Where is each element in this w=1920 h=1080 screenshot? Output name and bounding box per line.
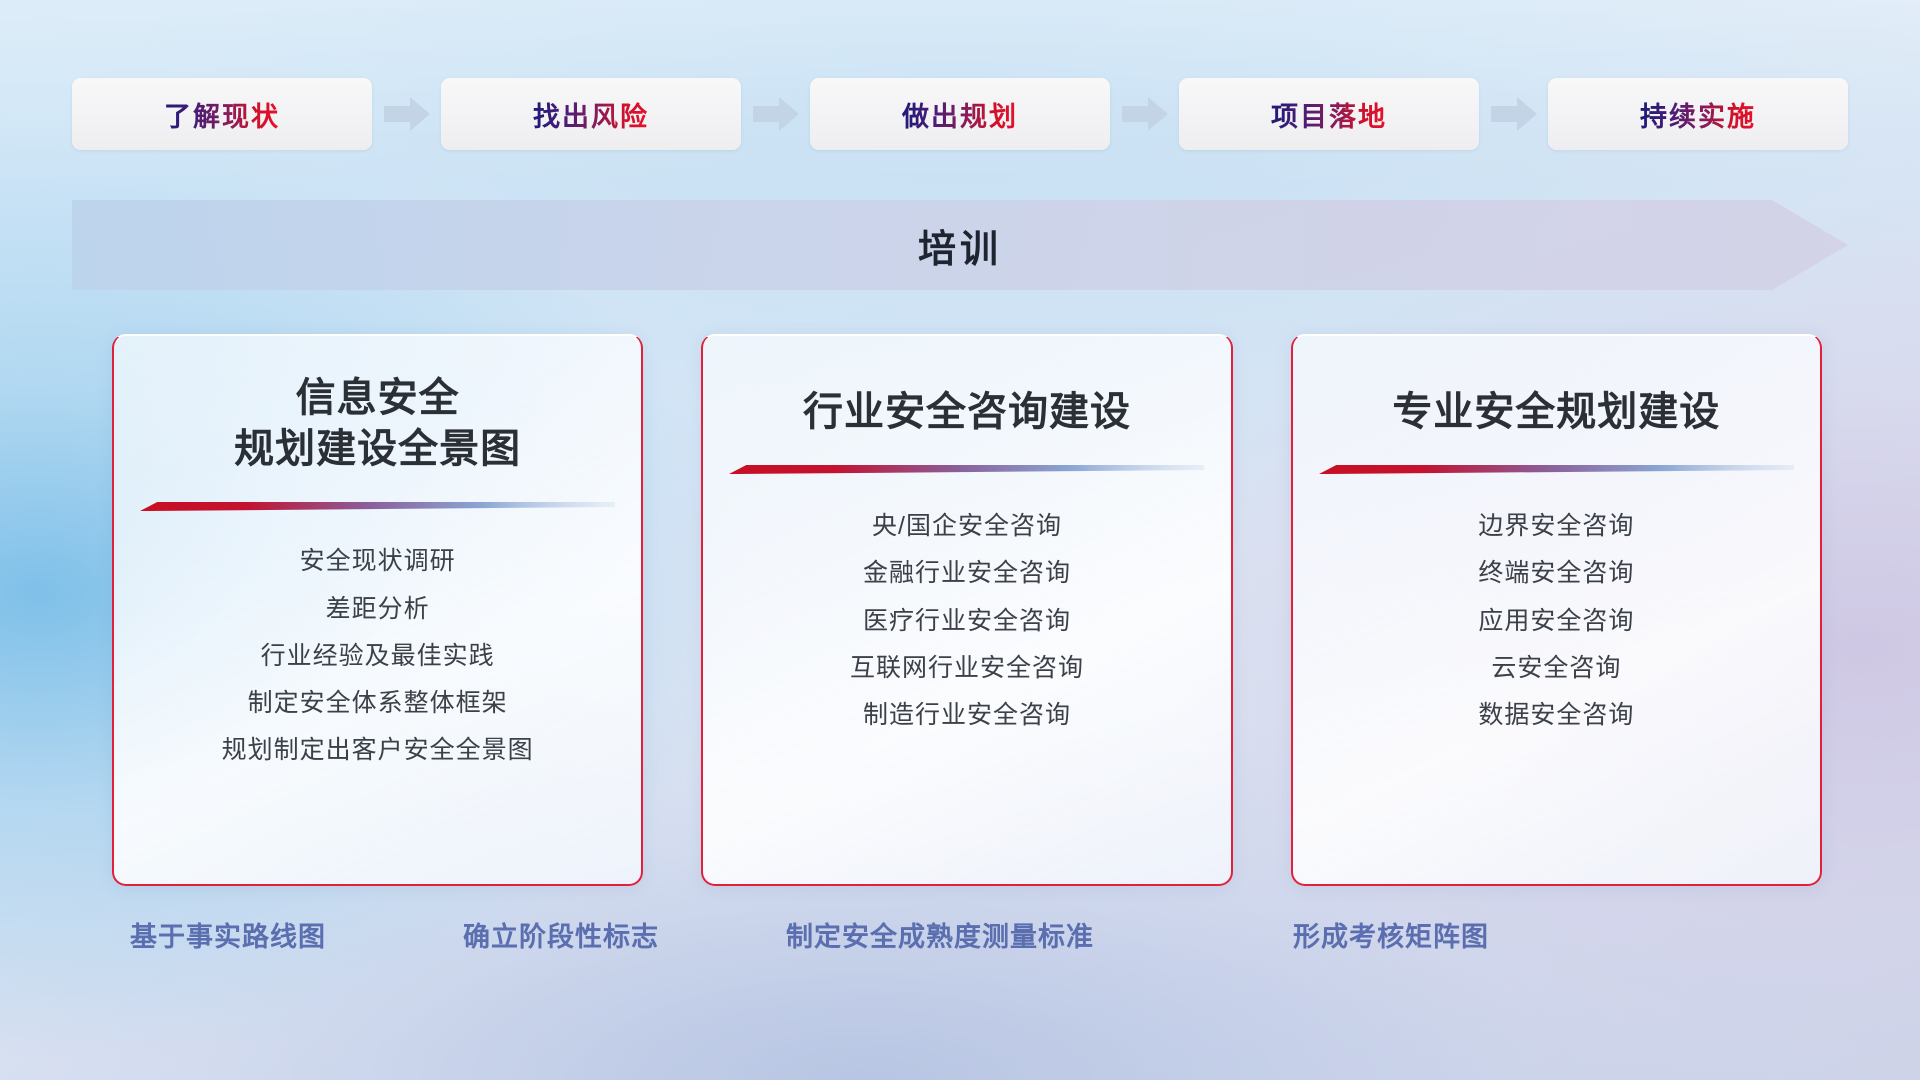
- card-body: 行业安全咨询建设 央/国企安全咨询: [703, 335, 1230, 884]
- arrow-right-icon: [1122, 97, 1168, 131]
- list-item: 规划制定出客户安全全景图: [222, 735, 534, 766]
- captions-row: 基于事实路线图 确立阶段性标志 制定安全成熟度测量标准 形成考核矩阵图: [0, 915, 1920, 965]
- step-label: 项目落地: [1271, 95, 1387, 134]
- banner-title: 培训: [72, 200, 1848, 290]
- cards-row: 信息安全 规划建设全景图 安全现状调研: [112, 334, 1822, 886]
- card-list: 边界安全咨询 终端安全咨询 应用安全咨询 云安全咨询 数据安全咨询: [1319, 511, 1794, 731]
- step-box-4[interactable]: 项目落地: [1179, 78, 1479, 150]
- caption-matrix: 形成考核矩阵图: [1293, 915, 1489, 954]
- card-divider: [729, 464, 1204, 475]
- card-body: 信息安全 规划建设全景图 安全现状调研: [114, 335, 641, 884]
- card-title: 行业安全咨询建设: [803, 387, 1131, 438]
- process-steps-row: 了解现状 找出风险 做出规划 项目落地 持续实施: [72, 78, 1848, 150]
- list-item: 应用安全咨询: [1478, 606, 1634, 637]
- card-information-security-blueprint[interactable]: 信息安全 规划建设全景图 安全现状调研: [112, 334, 643, 886]
- card-professional-security-planning[interactable]: 专业安全规划建设 边界安全咨询: [1291, 334, 1822, 886]
- card-divider: [1319, 464, 1794, 475]
- gradient-rule-icon: [1319, 464, 1794, 475]
- list-item: 互联网行业安全咨询: [850, 653, 1084, 684]
- arrow-right-icon: [1491, 97, 1537, 131]
- step-arrow-2: [741, 78, 810, 150]
- list-item: 医疗行业安全咨询: [863, 606, 1071, 637]
- list-item: 云安全咨询: [1491, 653, 1621, 684]
- step-arrow-4: [1479, 78, 1548, 150]
- caption-milestones: 确立阶段性标志: [463, 915, 659, 954]
- step-box-5[interactable]: 持续实施: [1548, 78, 1848, 150]
- list-item: 制定安全体系整体框架: [248, 688, 508, 719]
- list-item: 数据安全咨询: [1478, 700, 1634, 731]
- caption-maturity: 制定安全成熟度测量标准: [786, 915, 1094, 954]
- step-box-2[interactable]: 找出风险: [441, 78, 741, 150]
- card-title: 信息安全 规划建设全景图: [234, 373, 521, 475]
- gradient-rule-icon: [140, 501, 615, 512]
- card-title: 专业安全规划建设: [1392, 387, 1720, 438]
- card-divider: [140, 501, 615, 512]
- step-label: 做出规划: [902, 95, 1018, 134]
- step-arrow-1: [372, 78, 441, 150]
- list-item: 金融行业安全咨询: [863, 558, 1071, 589]
- list-item: 行业经验及最佳实践: [261, 641, 495, 672]
- list-item: 差距分析: [326, 594, 430, 625]
- step-label: 找出风险: [533, 95, 649, 134]
- step-label: 了解现状: [164, 95, 280, 134]
- list-item: 制造行业安全咨询: [863, 700, 1071, 731]
- step-arrow-3: [1110, 78, 1179, 150]
- card-industry-security-consulting[interactable]: 行业安全咨询建设 央/国企安全咨询: [701, 334, 1232, 886]
- arrow-right-icon: [753, 97, 799, 131]
- step-box-3[interactable]: 做出规划: [810, 78, 1110, 150]
- gradient-rule-icon: [729, 464, 1204, 475]
- card-list: 安全现状调研 差距分析 行业经验及最佳实践 制定安全体系整体框架 规划制定出客户…: [140, 546, 615, 766]
- step-label: 持续实施: [1640, 95, 1756, 134]
- list-item: 边界安全咨询: [1478, 511, 1634, 542]
- caption-roadmap: 基于事实路线图: [130, 915, 326, 954]
- step-box-1[interactable]: 了解现状: [72, 78, 372, 150]
- arrow-right-icon: [384, 97, 430, 131]
- list-item: 终端安全咨询: [1478, 558, 1634, 589]
- card-body: 专业安全规划建设 边界安全咨询: [1293, 335, 1820, 884]
- list-item: 安全现状调研: [300, 546, 456, 577]
- card-list: 央/国企安全咨询 金融行业安全咨询 医疗行业安全咨询 互联网行业安全咨询 制造行…: [729, 511, 1204, 731]
- training-banner: 培训: [72, 200, 1848, 290]
- list-item: 央/国企安全咨询: [872, 511, 1062, 542]
